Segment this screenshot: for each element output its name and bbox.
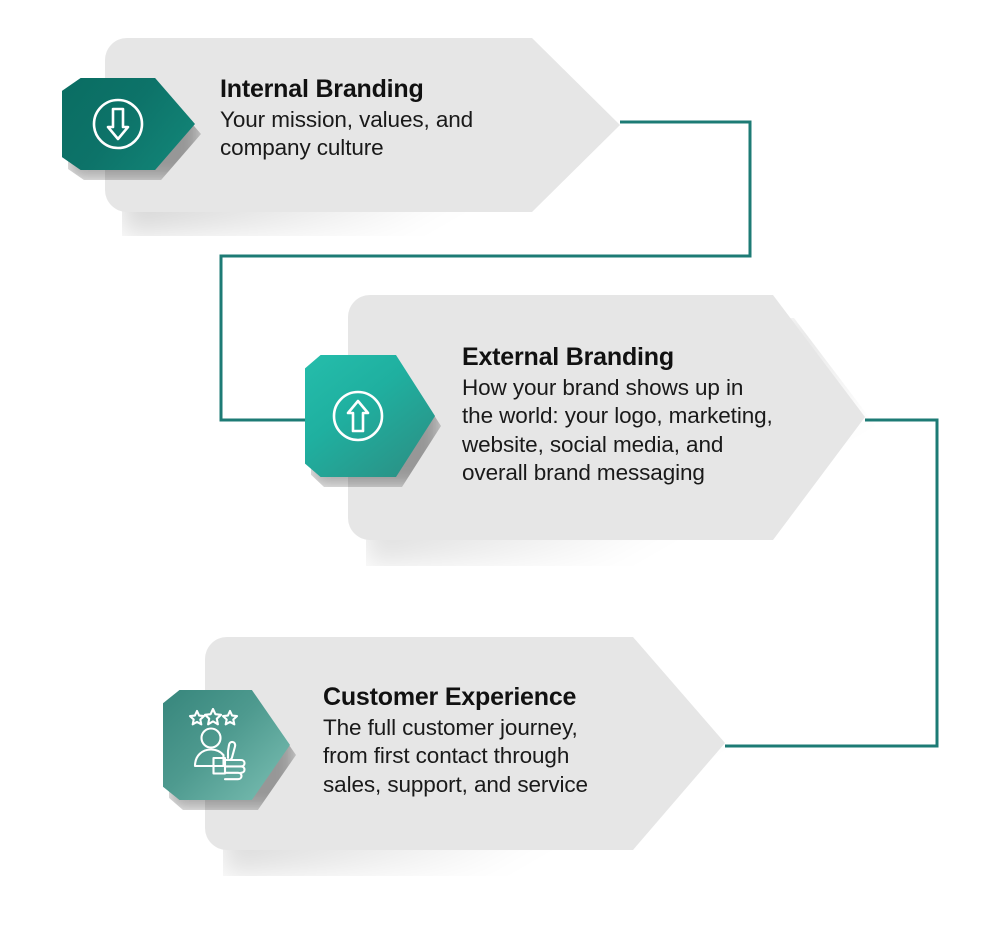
card-description-step3: The full customer journey, from first co… (323, 714, 723, 799)
card-title-step1: Internal Branding (220, 74, 550, 104)
card-description-line: website, social media, and (462, 431, 862, 459)
card-text-step3: Customer Experience The full customer jo… (323, 682, 723, 799)
card-description-line: overall brand messaging (462, 459, 862, 487)
card-title-step3: Customer Experience (323, 682, 723, 712)
card-description-line: the world: your logo, marketing, (462, 402, 862, 430)
card-description-line: from first contact through (323, 742, 723, 770)
circle-arrow-up-icon (330, 388, 386, 444)
card-description-line: The full customer journey, (323, 714, 723, 742)
card-text-step2: External Branding How your brand shows u… (462, 342, 862, 487)
customer-rating-thumbs-up-icon (185, 708, 259, 784)
card-text-step1: Internal Branding Your mission, values, … (220, 74, 550, 163)
card-title-step2: External Branding (462, 342, 862, 372)
icon-badge-step2[interactable] (305, 355, 435, 477)
infographic-canvas: Internal Branding Your mission, values, … (0, 0, 1000, 940)
card-description-line: company culture (220, 134, 550, 162)
card-description-line: sales, support, and service (323, 771, 723, 799)
card-description-line: How your brand shows up in (462, 374, 862, 402)
icon-badge-step1[interactable] (62, 78, 195, 170)
card-description-step1: Your mission, values, and company cultur… (220, 106, 550, 163)
card-description-step2: How your brand shows up in the world: yo… (462, 374, 862, 487)
card-description-line: Your mission, values, and (220, 106, 550, 134)
circle-arrow-down-icon (90, 96, 146, 152)
icon-badge-step3[interactable] (163, 690, 290, 800)
